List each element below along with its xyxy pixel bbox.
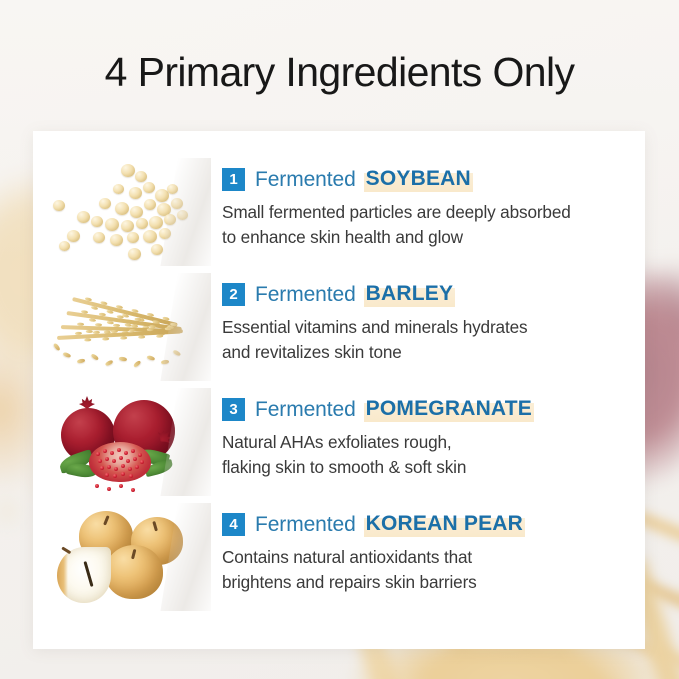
ingredient-number-badge: 4 xyxy=(222,513,245,536)
description-line: brightens and repairs skin barriers xyxy=(222,570,645,595)
pomegranate-photo xyxy=(33,388,211,496)
ingredient-prefix: Fermented xyxy=(255,513,356,537)
ingredient-prefix: Fermented xyxy=(255,398,356,422)
ingredient-text-soybean: 1 Fermented SOYBEAN Small fermented part… xyxy=(211,158,645,251)
description-line: flaking skin to smooth & soft skin xyxy=(222,455,645,480)
description-line: Small fermented particles are deeply abs… xyxy=(222,200,645,225)
ingredient-text-pomegranate: 3 Fermented POMEGRANATE Natural AHAs exf… xyxy=(211,388,645,481)
ingredient-prefix: Fermented xyxy=(255,283,356,307)
ingredient-row-korean-pear: 4 Fermented KOREAN PEAR Contains natural… xyxy=(33,503,645,618)
ingredient-heading: 3 Fermented POMEGRANATE xyxy=(222,397,645,422)
ingredient-name: POMEGRANATE xyxy=(364,397,534,422)
description-line: and revitalizes skin tone xyxy=(222,340,645,365)
ingredient-row-pomegranate: 3 Fermented POMEGRANATE Natural AHAs exf… xyxy=(33,388,645,503)
page-title: 4 Primary Ingredients Only xyxy=(0,49,679,96)
ingredient-name: SOYBEAN xyxy=(364,167,473,192)
ingredient-number-badge: 1 xyxy=(222,168,245,191)
ingredients-card: 1 Fermented SOYBEAN Small fermented part… xyxy=(33,131,645,649)
description-line: Contains natural antioxidants that xyxy=(222,545,645,570)
photo-edge-shade xyxy=(160,388,211,496)
ingredient-number-badge: 3 xyxy=(222,398,245,421)
ingredient-heading: 1 Fermented SOYBEAN xyxy=(222,167,645,192)
barley-photo xyxy=(33,273,211,381)
ingredient-number-badge: 2 xyxy=(222,283,245,306)
ingredient-prefix: Fermented xyxy=(255,168,356,192)
ingredient-description: Natural AHAs exfoliates rough, flaking s… xyxy=(222,430,645,481)
soybeans-photo xyxy=(33,158,211,266)
ingredient-row-soybean: 1 Fermented SOYBEAN Small fermented part… xyxy=(33,158,645,273)
ingredient-name: KOREAN PEAR xyxy=(364,512,525,537)
ingredient-name: BARLEY xyxy=(364,282,456,307)
description-line: Natural AHAs exfoliates rough, xyxy=(222,430,645,455)
ingredient-heading: 2 Fermented BARLEY xyxy=(222,282,645,307)
description-line: to enhance skin health and glow xyxy=(222,225,645,250)
ingredient-text-barley: 2 Fermented BARLEY Essential vitamins an… xyxy=(211,273,645,366)
photo-edge-shade xyxy=(160,273,211,381)
description-line: Essential vitamins and minerals hydrates xyxy=(222,315,645,340)
ingredient-description: Small fermented particles are deeply abs… xyxy=(222,200,645,251)
ingredient-description: Essential vitamins and minerals hydrates… xyxy=(222,315,645,366)
ingredient-text-korean-pear: 4 Fermented KOREAN PEAR Contains natural… xyxy=(211,503,645,596)
photo-edge-shade xyxy=(160,158,211,266)
korean-pear-photo xyxy=(33,503,211,611)
ingredient-row-barley: 2 Fermented BARLEY Essential vitamins an… xyxy=(33,273,645,388)
ingredient-heading: 4 Fermented KOREAN PEAR xyxy=(222,512,645,537)
ingredient-description: Contains natural antioxidants that brigh… xyxy=(222,545,645,596)
